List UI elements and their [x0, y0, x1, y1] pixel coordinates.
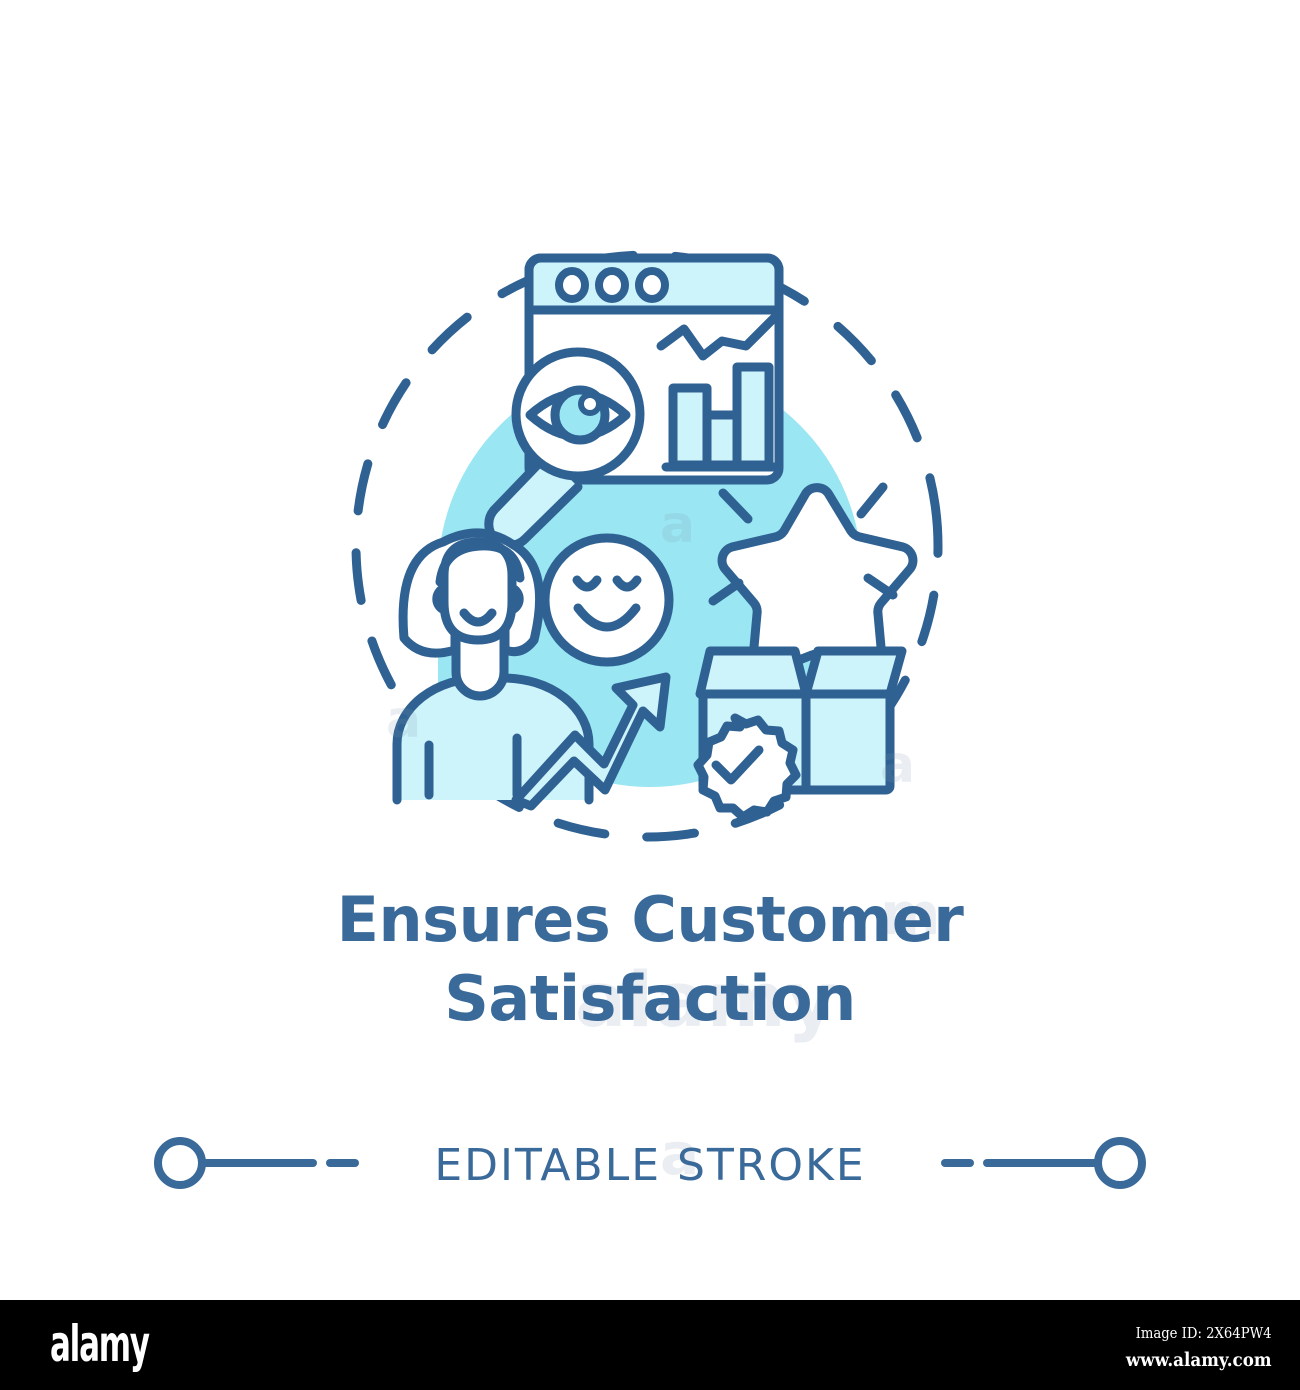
- stock-photo-page: a alamy a a a m Ensures Customer Satisfa…: [0, 0, 1300, 1390]
- image-id-label: Image ID: 2X64PW4: [1126, 1322, 1272, 1345]
- alamy-watermark-bar: alamy Image ID: 2X64PW4 www.alamy.com: [0, 1300, 1300, 1390]
- illustration-artboard: a alamy a a a m: [0, 0, 1300, 1300]
- right-endpoint-circle-icon: [1098, 1141, 1142, 1185]
- editable-stroke-rule: EDITABLE STROKE: [150, 1128, 1150, 1198]
- title-line-2: Satisfaction: [0, 959, 1300, 1038]
- editable-stroke-label: EDITABLE STROKE: [434, 1140, 865, 1191]
- concept-icon-svg: [0, 0, 1300, 1300]
- window-dots: [559, 271, 665, 299]
- alamy-logo: alamy: [50, 1318, 149, 1371]
- left-endpoint-circle-icon: [158, 1141, 202, 1185]
- watermark-meta: Image ID: 2X64PW4 www.alamy.com: [1106, 1322, 1272, 1375]
- title-line-1: Ensures Customer: [0, 880, 1300, 959]
- smiley-face-icon: [545, 538, 669, 662]
- alamy-url-label: www.alamy.com: [1126, 1345, 1272, 1375]
- editable-stroke-footer: EDITABLE STROKE: [0, 1128, 1300, 1198]
- concept-title: Ensures Customer Satisfaction: [0, 880, 1300, 1039]
